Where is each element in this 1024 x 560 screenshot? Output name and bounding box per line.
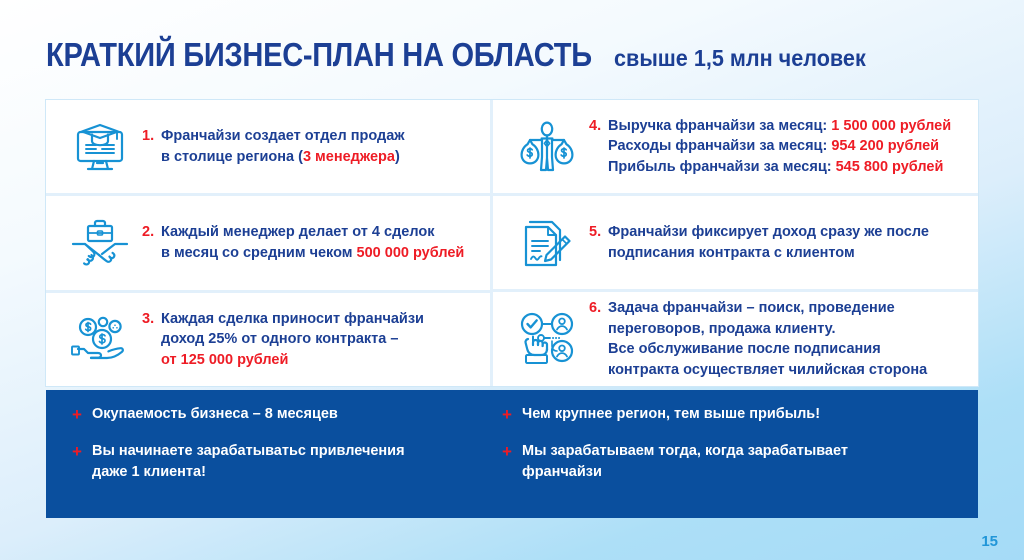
highlighted-value: 545 800 рублей (836, 159, 944, 175)
grid-cell-body: 1.Франчайзи создает отдел продажв столиц… (136, 126, 405, 167)
highlighted-value: от 125 000 рублей (161, 352, 288, 368)
grid-cell: 2.Каждый менеджер делает от 4 сделокв ме… (46, 193, 490, 289)
text-segment: Каждый менеджер делает от 4 сделок (161, 224, 435, 240)
highlighted-value: 954 200 рублей (831, 138, 939, 154)
grid-cell: 4.Выручка франчайзи за месяц: 1 500 000 … (493, 100, 978, 193)
grid-cell-line: контракта осуществляет чилийская сторона (608, 360, 927, 381)
footer-benefit-text: Окупаемость бизнеса – 8 месяцев (92, 404, 338, 425)
grid-cell-line: Расходы франчайзи за месяц: 954 200 рубл… (608, 136, 951, 157)
footer-benefit-item: +Вы начинаете зарабатыватьс привлеченияд… (72, 441, 490, 483)
grid-cell-line: в столице региона (3 менеджера) (161, 147, 405, 168)
page-title-subtitle: свыше 1,5 млн человек (614, 47, 866, 70)
text-segment: в месяц со средним чеком (161, 245, 357, 261)
grid-left-column: 1.Франчайзи создает отдел продажв столиц… (46, 100, 490, 386)
footer-left-column: +Окупаемость бизнеса – 8 месяцев+Вы начи… (46, 404, 490, 518)
footer-benefit-line: Мы зарабатываем тогда, когда зарабатывае… (522, 441, 848, 462)
highlighted-value: 500 000 рублей (357, 245, 465, 261)
grid-cell-body: 5.Франчайзи фиксирует доход сразу же пос… (583, 222, 929, 263)
footer-benefit-item: +Окупаемость бизнеса – 8 месяцев (72, 404, 490, 425)
monitor-graduation-cap-icon (64, 115, 136, 179)
grid-cell-number: 4. (589, 116, 608, 137)
footer-benefit-line: Окупаемость бизнеса – 8 месяцев (92, 404, 338, 425)
text-segment: переговоров, продажа клиенту. (608, 321, 835, 337)
footer-benefit-text: Мы зарабатываем тогда, когда зарабатывае… (522, 441, 848, 483)
text-segment: Выручка франчайзи за месяц: (608, 118, 831, 134)
grid-cell-body: 2.Каждый менеджер делает от 4 сделокв ме… (136, 222, 464, 263)
text-segment: Все обслуживание после подписания (608, 341, 881, 357)
person-money-bags-icon (511, 115, 583, 179)
text-segment: Франчайзи создает отдел продаж (161, 128, 405, 144)
plus-icon: + (72, 441, 92, 462)
grid-cell-number: 2. (142, 222, 161, 243)
grid-cell: 6.Задача франчайзи – поиск, проведениепе… (493, 289, 978, 386)
grid-cell-line: Все обслуживание после подписания (608, 339, 927, 360)
footer-benefit-text: Вы начинаете зарабатыватьс привлеченияда… (92, 441, 405, 483)
grid-right-column: 4.Выручка франчайзи за месяц: 1 500 000 … (490, 100, 978, 386)
grid-cell-line: подписания контракта с клиентом (608, 243, 929, 264)
text-segment: Франчайзи фиксирует доход сразу же после (608, 224, 929, 240)
text-segment: в столице региона ( (161, 149, 303, 165)
text-segment: контракта осуществляет чилийская сторона (608, 362, 927, 378)
grid-cell-number: 5. (589, 222, 608, 243)
grid-cell-number: 1. (142, 126, 161, 147)
text-segment: Расходы франчайзи за месяц: (608, 138, 831, 154)
page-title-main: КРАТКИЙ БИЗНЕС-ПЛАН НА ОБЛАСТЬ (46, 38, 592, 71)
plus-icon: + (72, 404, 92, 425)
footer-benefit-line: Чем крупнее регион, тем выше прибыль! (522, 404, 820, 425)
plus-icon: + (502, 441, 522, 462)
grid-cell-number: 6. (589, 298, 608, 319)
text-segment: Задача франчайзи – поиск, проведение (608, 300, 895, 316)
footer-benefit-item: +Чем крупнее регион, тем выше прибыль! (502, 404, 978, 425)
grid-cell-line: Франчайзи фиксирует доход сразу же после (608, 222, 929, 243)
grid-cell-text: Задача франчайзи – поиск, проведениепере… (608, 298, 927, 380)
grid-cell-body: 4.Выручка франчайзи за месяц: 1 500 000 … (583, 116, 951, 178)
footer-benefit-text: Чем крупнее регион, тем выше прибыль! (522, 404, 820, 425)
hand-network-select-icon (511, 307, 583, 371)
grid-cell-body: 6.Задача франчайзи – поиск, проведениепе… (583, 298, 927, 380)
plus-icon: + (502, 404, 522, 425)
grid-cell-line: доход 25% от одного контракта – (161, 329, 424, 350)
grid-cell: 5.Франчайзи фиксирует доход сразу же пос… (493, 193, 978, 289)
highlighted-value: 3 менеджера (303, 149, 395, 165)
grid-cell-line: Выручка франчайзи за месяц: 1 500 000 ру… (608, 116, 951, 137)
grid-cell-line: в месяц со средним чеком 500 000 рублей (161, 243, 464, 264)
grid-cell-text: Франчайзи фиксирует доход сразу же после… (608, 222, 929, 263)
grid-cell-text: Выручка франчайзи за месяц: 1 500 000 ру… (608, 116, 951, 178)
footer-right-column: +Чем крупнее регион, тем выше прибыль!+М… (490, 404, 978, 518)
grid-cell-text: Каждая сделка приносит франчайзидоход 25… (161, 309, 424, 371)
grid-cell-line: Прибыль франчайзи за месяц: 545 800 рубл… (608, 157, 951, 178)
grid-cell-body: 3.Каждая сделка приносит франчайзидоход … (136, 309, 424, 371)
grid-cell-line: Франчайзи создает отдел продаж (161, 126, 405, 147)
grid-cell-text: Франчайзи создает отдел продажв столице … (161, 126, 405, 167)
grid-cell-text: Каждый менеджер делает от 4 сделокв меся… (161, 222, 464, 263)
grid-cell: 1.Франчайзи создает отдел продажв столиц… (46, 100, 490, 193)
text-segment: Прибыль франчайзи за месяц: (608, 159, 836, 175)
grid-cell: 3.Каждая сделка приносит франчайзидоход … (46, 290, 490, 386)
text-segment: ) (395, 149, 400, 165)
document-pencil-icon (511, 211, 583, 275)
handshake-briefcase-icon (64, 211, 136, 275)
grid-cell-line: переговоров, продажа клиенту. (608, 319, 927, 340)
hand-coins-icon (64, 307, 136, 371)
grid-cell-line: Задача франчайзи – поиск, проведение (608, 298, 927, 319)
grid-cell-line: от 125 000 рублей (161, 350, 424, 371)
grid-cell-number: 3. (142, 309, 161, 330)
grid-cell-line: Каждая сделка приносит франчайзи (161, 309, 424, 330)
footer-benefit-item: +Мы зарабатываем тогда, когда зарабатыва… (502, 441, 978, 483)
footer-benefit-line: франчайзи (522, 462, 848, 483)
text-segment: подписания контракта с клиентом (608, 245, 855, 261)
page-number: 15 (981, 533, 998, 550)
footer-benefit-line: даже 1 клиента! (92, 462, 405, 483)
text-segment: Каждая сделка приносит франчайзи (161, 311, 424, 327)
text-segment: доход 25% от одного контракта – (161, 331, 398, 347)
benefits-footer: +Окупаемость бизнеса – 8 месяцев+Вы начи… (46, 390, 978, 518)
footer-benefit-line: Вы начинаете зарабатыватьс привлечения (92, 441, 405, 462)
page-title: КРАТКИЙ БИЗНЕС-ПЛАН НА ОБЛАСТЬ свыше 1,5… (46, 38, 882, 71)
highlighted-value: 1 500 000 рублей (831, 118, 951, 134)
grid-cell-line: Каждый менеджер делает от 4 сделок (161, 222, 464, 243)
business-plan-grid: 1.Франчайзи создает отдел продажв столиц… (46, 100, 978, 386)
